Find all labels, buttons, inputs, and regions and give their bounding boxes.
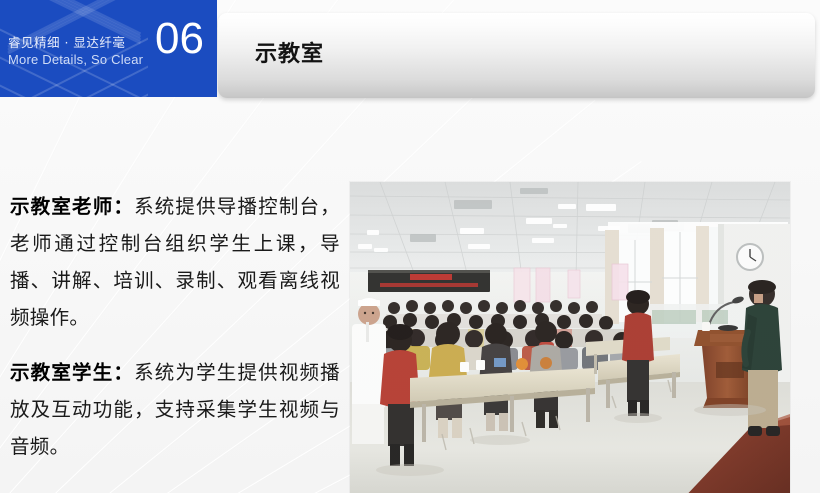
slogan-chinese: 睿见精细 · 显达纤毫 <box>8 32 148 51</box>
paragraph-teacher: 示教室老师：系统提供导播控制台，老师通过控制台组织学生上课，导播、讲解、培训、录… <box>10 188 340 336</box>
paragraph-teacher-lead: 示教室老师 <box>10 195 113 218</box>
header-accent-block: 睿见精细 · 显达纤毫 More Details, So Clear 06 <box>0 0 217 97</box>
paragraph-student-lead: 示教室学生 <box>10 361 113 384</box>
content-text-column: 示教室老师：系统提供导播控制台，老师通过控制台组织学生上课，导播、讲解、培训、录… <box>10 188 340 465</box>
paragraph-student: 示教室学生：系统为学生提供视频播放及互动功能，支持采集学生视频与音频。 <box>10 354 340 465</box>
page-title: 示教室 <box>255 36 324 68</box>
page-header: 示教室 睿见精细 · 显达纤毫 <box>0 0 820 110</box>
brand-slogan: 睿见精细 · 显达纤毫 More Details, So Clear <box>8 32 148 67</box>
paragraph-teacher-separator: ： <box>113 195 134 218</box>
slide-page: 示教室 睿见精细 · 显达纤毫 <box>0 0 820 493</box>
paragraph-student-separator: ： <box>113 361 134 384</box>
classroom-photo: 示教室现场照片：阶梯教室内多名学员就座听课，讲台前有演讲者，墙上悬挂LED横幅与… <box>350 182 790 493</box>
slogan-english: More Details, So Clear <box>8 52 148 67</box>
section-number-badge: 06 <box>155 17 204 61</box>
